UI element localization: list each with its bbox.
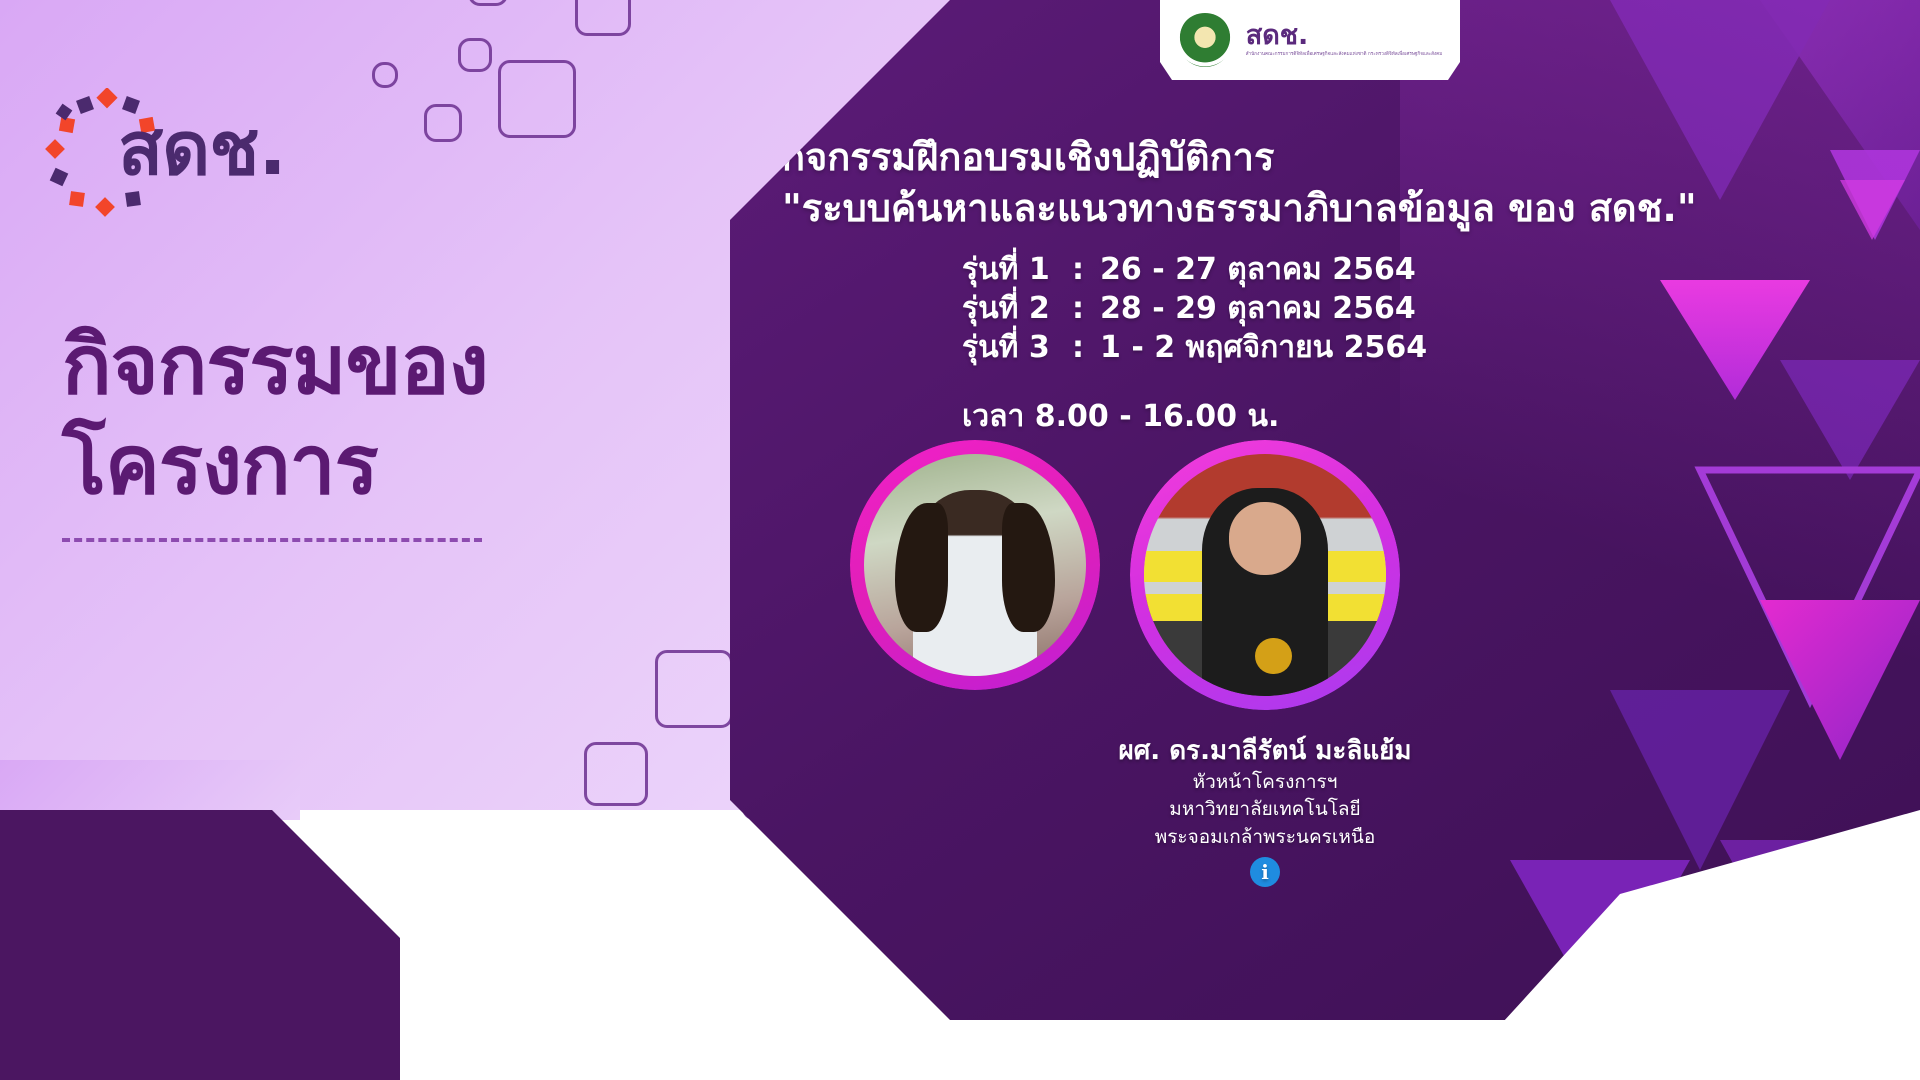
session-separator: : — [1072, 250, 1100, 289]
session-separator: : — [1072, 289, 1100, 328]
photo-hair-right — [1002, 503, 1055, 632]
photo-inner — [1144, 454, 1386, 696]
speaker-org-line2: พระจอมเกล้าพระนครเหนือ — [1030, 824, 1500, 852]
deco-square — [458, 38, 492, 72]
page-title-line2: โครงการ — [62, 416, 682, 516]
session-date: 1 - 2 พฤศจิกายน 2564 — [1100, 328, 1427, 367]
page-title-line1: กิจกรรมของ — [62, 316, 682, 416]
deco-square — [575, 0, 631, 36]
speaker-caption: ผศ. ดร.มาลีรัตน์ มะลิแย้ม หัวหน้าโครงการ… — [1030, 735, 1500, 887]
session-list: รุ่นที่ 1 : 26 - 27 ตุลาคม 2564 รุ่นที่ … — [962, 250, 1427, 440]
badge-bar: สดช. สำนักงานคณะกรรมการดิจิทัลเพื่อเศรษฐ… — [1160, 0, 1460, 80]
session-row: รุ่นที่ 2 : 28 - 29 ตุลาคม 2564 — [962, 289, 1427, 328]
deco-square — [498, 60, 576, 138]
session-time: เวลา 8.00 - 16.00 น. — [962, 393, 1427, 440]
page-title: กิจกรรมของ โครงการ — [62, 316, 682, 516]
speaker-name: ผศ. ดร.มาลีรัตน์ มะลิแย้ม — [1030, 735, 1500, 769]
session-label: รุ่นที่ 2 — [962, 289, 1072, 328]
slide-canvas: สดช. กิจกรรมของ โครงการ — [0, 0, 1920, 1080]
speaker-photo-left — [850, 440, 1100, 690]
sdch-badge-word: สดช. — [1246, 22, 1309, 49]
deco-square — [424, 104, 462, 142]
photo-hair-left — [895, 503, 948, 632]
session-label: รุ่นที่ 1 — [962, 250, 1072, 289]
speaker-role: หัวหน้าโครงการฯ — [1030, 769, 1500, 797]
deco-square — [655, 650, 733, 728]
photo-face — [1229, 502, 1302, 575]
deco-square — [372, 62, 398, 88]
session-row: รุ่นที่ 1 : 26 - 27 ตุลาคม 2564 — [962, 250, 1427, 289]
card-title-line1: กิจกรรมฝึกอบรมเชิงปฏิบัติการ — [782, 132, 1920, 183]
session-label: รุ่นที่ 3 — [962, 328, 1072, 367]
photo-inner — [864, 454, 1086, 676]
session-row: รุ่นที่ 3 : 1 - 2 พฤศจิกายน 2564 — [962, 328, 1427, 367]
info-icon[interactable]: i — [1250, 857, 1280, 887]
session-separator: : — [1072, 328, 1100, 367]
sdch-badge: สดช. สำนักงานคณะกรรมการดิจิทัลเพื่อเศรษฐ… — [1246, 22, 1443, 58]
deco-square — [584, 742, 648, 806]
logo-wordmark: สดช. — [118, 112, 286, 186]
title-divider — [62, 538, 482, 542]
left-panel-foot-purple — [0, 810, 400, 1080]
card-title: กิจกรรมฝึกอบรมเชิงปฏิบัติการ "ระบบค้นหาแ… — [730, 132, 1920, 235]
government-seal-icon — [1178, 13, 1232, 67]
sdch-badge-subtitle: สำนักงานคณะกรรมการดิจิทัลเพื่อเศรษฐกิจแล… — [1246, 52, 1443, 58]
card-title-line2: "ระบบค้นหาและแนวทางธรรมาภิบาลข้อมูล ของ … — [782, 183, 1920, 234]
speaker-photo-right — [1130, 440, 1400, 710]
session-date: 26 - 27 ตุลาคม 2564 — [1100, 250, 1416, 289]
brand-logo: สดช. — [40, 88, 270, 218]
session-date: 28 - 29 ตุลาคม 2564 — [1100, 289, 1416, 328]
speaker-org-line1: มหาวิทยาลัยเทคโนโลยี — [1030, 796, 1500, 824]
photo-emblem — [1255, 638, 1291, 674]
